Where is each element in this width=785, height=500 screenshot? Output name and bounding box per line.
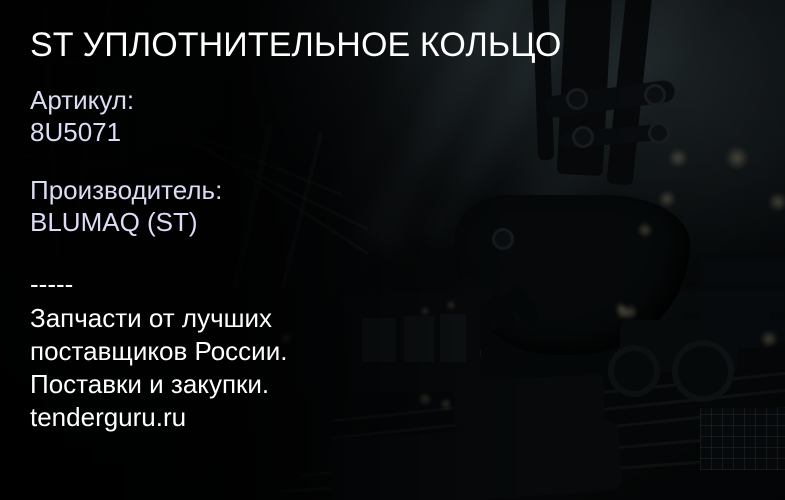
excavator-linkage <box>544 79 676 119</box>
article-label: Артикул: <box>30 85 134 115</box>
bokeh-light <box>637 222 653 238</box>
promo-text-block: Запчасти от лучших поставщиков России. П… <box>30 302 287 434</box>
bucket-tooth <box>502 284 543 327</box>
background-crate <box>640 318 785 344</box>
excavator-pivot-pin <box>572 126 594 148</box>
excavator-pivot-pin <box>566 88 588 110</box>
bokeh-light <box>658 190 676 208</box>
background-loader-silhouette <box>485 238 625 318</box>
background-crate <box>662 288 785 314</box>
product-title: ST УПЛОТНИТЕЛЬНОЕ КОЛЬЦО <box>30 25 561 65</box>
background-loader-silhouette <box>560 252 680 338</box>
storage-cage <box>700 408 785 470</box>
excavator-pivot-pin <box>644 84 666 106</box>
bokeh-light <box>760 330 778 348</box>
bucket-pivot-pin <box>455 340 481 366</box>
scaffolding-beam <box>0 0 14 280</box>
bucket-tooth <box>479 289 521 332</box>
promo-line-1: Запчасти от лучших <box>30 302 287 335</box>
promo-line-2: поставщиков России. <box>30 335 287 368</box>
banner-content: ST УПЛОТНИТЕЛЬНОЕ КОЛЬЦО Артикул: 8U5071… <box>30 0 450 500</box>
separator-dashes: ----- <box>30 268 73 300</box>
bucket-pivot-pin <box>492 228 514 250</box>
bokeh-light <box>768 192 785 212</box>
storage-cage-mesh <box>700 408 785 470</box>
article-field: Артикул: 8U5071 <box>30 84 134 148</box>
tractor-wheel <box>672 340 734 402</box>
promo-site-url: tenderguru.ru <box>30 401 287 434</box>
article-value: 8U5071 <box>30 116 134 148</box>
tractor-cab <box>700 300 770 348</box>
bokeh-light <box>615 302 627 314</box>
excavator-arm <box>557 0 614 176</box>
bokeh-light <box>725 146 749 170</box>
manufacturer-value: BLUMAQ (ST) <box>30 206 222 238</box>
excavator-pivot-pin <box>648 122 670 144</box>
excavator-linkage <box>560 123 671 149</box>
manufacturer-field: Производитель: BLUMAQ (ST) <box>30 174 222 238</box>
manufacturer-label: Производитель: <box>30 175 222 205</box>
promo-line-3: Поставки и закупки. <box>30 368 287 401</box>
tractor-wheel <box>608 345 660 397</box>
bokeh-light <box>668 148 688 168</box>
background-crate <box>700 258 785 288</box>
excavator-bucket <box>455 195 690 355</box>
bokeh-light <box>622 304 638 320</box>
bokeh-light <box>616 306 630 320</box>
bulldozer-body <box>453 374 607 462</box>
bucket-tooth <box>455 296 498 338</box>
tractor-body <box>620 320 738 372</box>
product-banner: ST УПЛОТНИТЕЛЬНОЕ КОЛЬЦО Артикул: 8U5071… <box>0 0 785 500</box>
excavator-arm <box>606 0 655 186</box>
